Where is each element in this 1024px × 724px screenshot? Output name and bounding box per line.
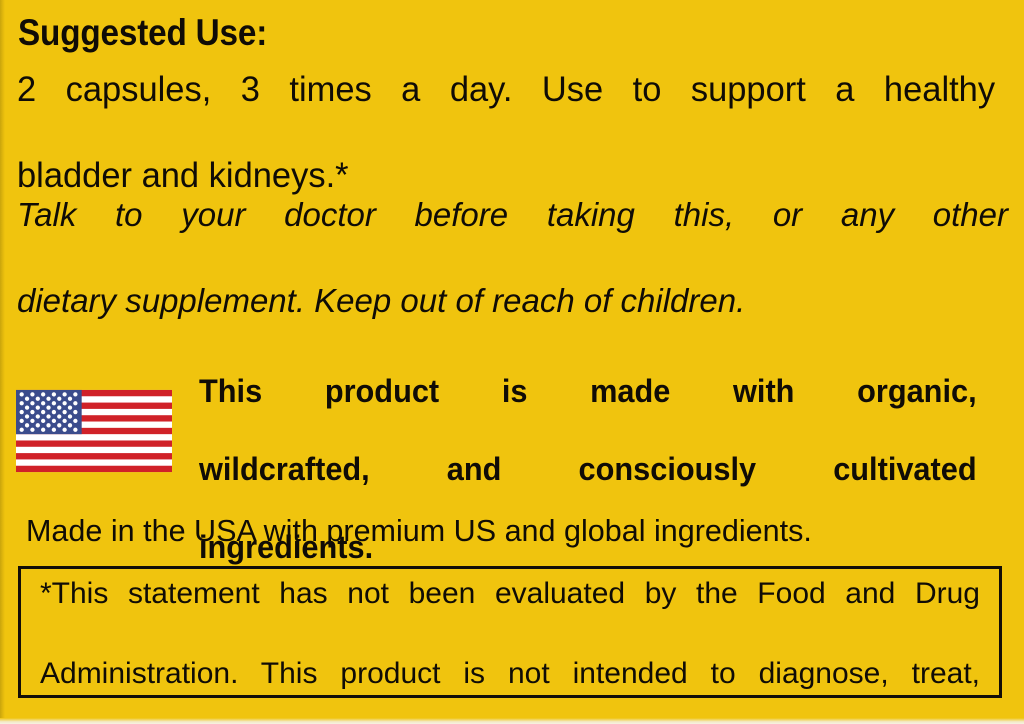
suggested-use-line-2: bladder and kidneys.* (17, 154, 995, 197)
made-in-usa-text: Made in the USA with premium US and glob… (26, 512, 812, 550)
suggested-use-text: 2 capsules, 3 times a day. Use to suppor… (17, 68, 995, 197)
usa-flag-icon (16, 379, 172, 483)
doctor-notice-line-1: Talk to your doctor before taking this, … (17, 193, 1008, 279)
fda-disclaimer-text: *This statement has not been evaluated b… (40, 574, 980, 724)
fda-disclaimer-box: *This statement has not been evaluated b… (18, 566, 1002, 698)
doctor-notice-text: Talk to your doctor before taking this, … (17, 193, 1008, 322)
organic-claim-line-1: This product is made with organic, (199, 372, 977, 450)
doctor-notice-line-2: dietary supplement. Keep out of reach of… (17, 279, 1008, 322)
supplement-label-panel: Suggested Use: 2 capsules, 3 times a day… (0, 0, 1024, 724)
fda-disclaimer-line-2: Administration. This product is not inte… (40, 654, 980, 724)
suggested-use-line-1: 2 capsules, 3 times a day. Use to suppor… (17, 68, 995, 154)
fda-disclaimer-line-1: *This statement has not been evaluated b… (40, 574, 980, 654)
suggested-use-heading: Suggested Use: (18, 12, 267, 54)
